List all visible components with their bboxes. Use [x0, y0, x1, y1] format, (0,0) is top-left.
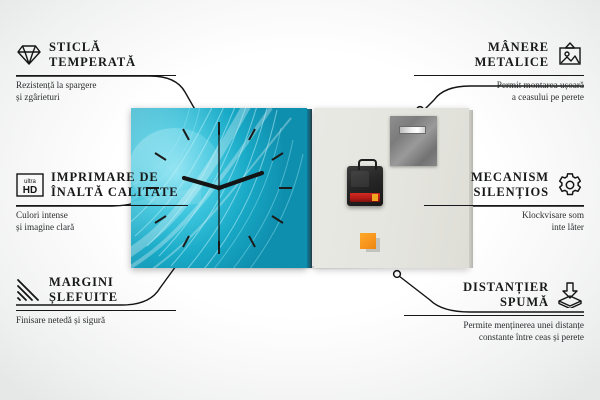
feature-rule [16, 75, 176, 76]
feature-title: MECANISM SILENȚIOS [471, 170, 549, 201]
feature-tempered-glass: STICLĂ TEMPERATĂ Rezistență la spargere … [16, 40, 176, 103]
feature-head: STICLĂ TEMPERATĂ [16, 40, 176, 71]
movement-battery [350, 193, 380, 202]
diamond-icon [16, 43, 42, 67]
movement-hanger-loop [358, 159, 377, 170]
feature-metal-handles: MÂNERE METALICE Permit montarea ușoară a… [414, 40, 584, 103]
feature-head: MÂNERE METALICE [414, 40, 584, 71]
feature-desc: Finisare netedă și sigură [16, 314, 176, 326]
feature-rule [16, 310, 176, 311]
metal-hanger-plate [390, 116, 437, 166]
hanger-slot [399, 126, 426, 134]
battery-plus-terminal [372, 194, 378, 201]
feature-title: STICLĂ TEMPERATĂ [49, 40, 136, 71]
gear-icon [556, 172, 584, 198]
feature-high-quality-print: ultra HD IMPRIMARE DE ÎNALTĂ CALITATE Cu… [16, 170, 188, 233]
feature-desc: Culori intense și imagine clară [16, 209, 188, 234]
feature-rule [424, 205, 584, 206]
feature-desc: Permite menținerea unei distanțe constan… [404, 319, 584, 344]
infographic-canvas: STICLĂ TEMPERATĂ Rezistență la spargere … [0, 0, 600, 400]
feature-title: MARGINI ȘLEFUITE [49, 275, 118, 306]
feature-polished-edges: MARGINI ȘLEFUITE Finisare netedă și sigu… [16, 275, 176, 326]
feature-head: ultra HD IMPRIMARE DE ÎNALTĂ CALITATE [16, 170, 188, 201]
feature-head: MECANISM SILENȚIOS [424, 170, 584, 201]
feature-foam-spacer: DISTANȚIER SPUMĂ Permite menținerea unei… [404, 280, 584, 343]
feature-desc: Permit montarea ușoară a ceasului pe per… [414, 79, 584, 104]
diagonal-stripes-icon [16, 278, 42, 302]
ultra-hd-icon: ultra HD [16, 172, 44, 198]
feature-title: IMPRIMARE DE ÎNALTĂ CALITATE [51, 170, 179, 201]
feature-silent-mechanism: MECANISM SILENȚIOS Klockvisare som inte … [424, 170, 584, 233]
orange-foam-spacer [360, 233, 376, 249]
feature-title: MÂNERE METALICE [475, 40, 549, 71]
feature-rule [414, 75, 584, 76]
feature-title: DISTANȚIER SPUMĂ [463, 280, 549, 311]
feature-desc: Klockvisare som inte låter [424, 209, 584, 234]
feature-desc: Rezistență la spargere și zgârieturi [16, 79, 176, 104]
movement-dial [351, 171, 369, 187]
glass-edge [307, 109, 312, 268]
feature-rule [404, 315, 584, 316]
down-arrow-layer-icon [556, 282, 584, 308]
feature-head: MARGINI ȘLEFUITE [16, 275, 176, 306]
feature-rule [16, 205, 188, 206]
svg-text:HD: HD [23, 185, 37, 196]
feature-head: DISTANȚIER SPUMĂ [404, 280, 584, 311]
picture-hanger-icon [556, 42, 584, 68]
quartz-movement [347, 166, 383, 206]
